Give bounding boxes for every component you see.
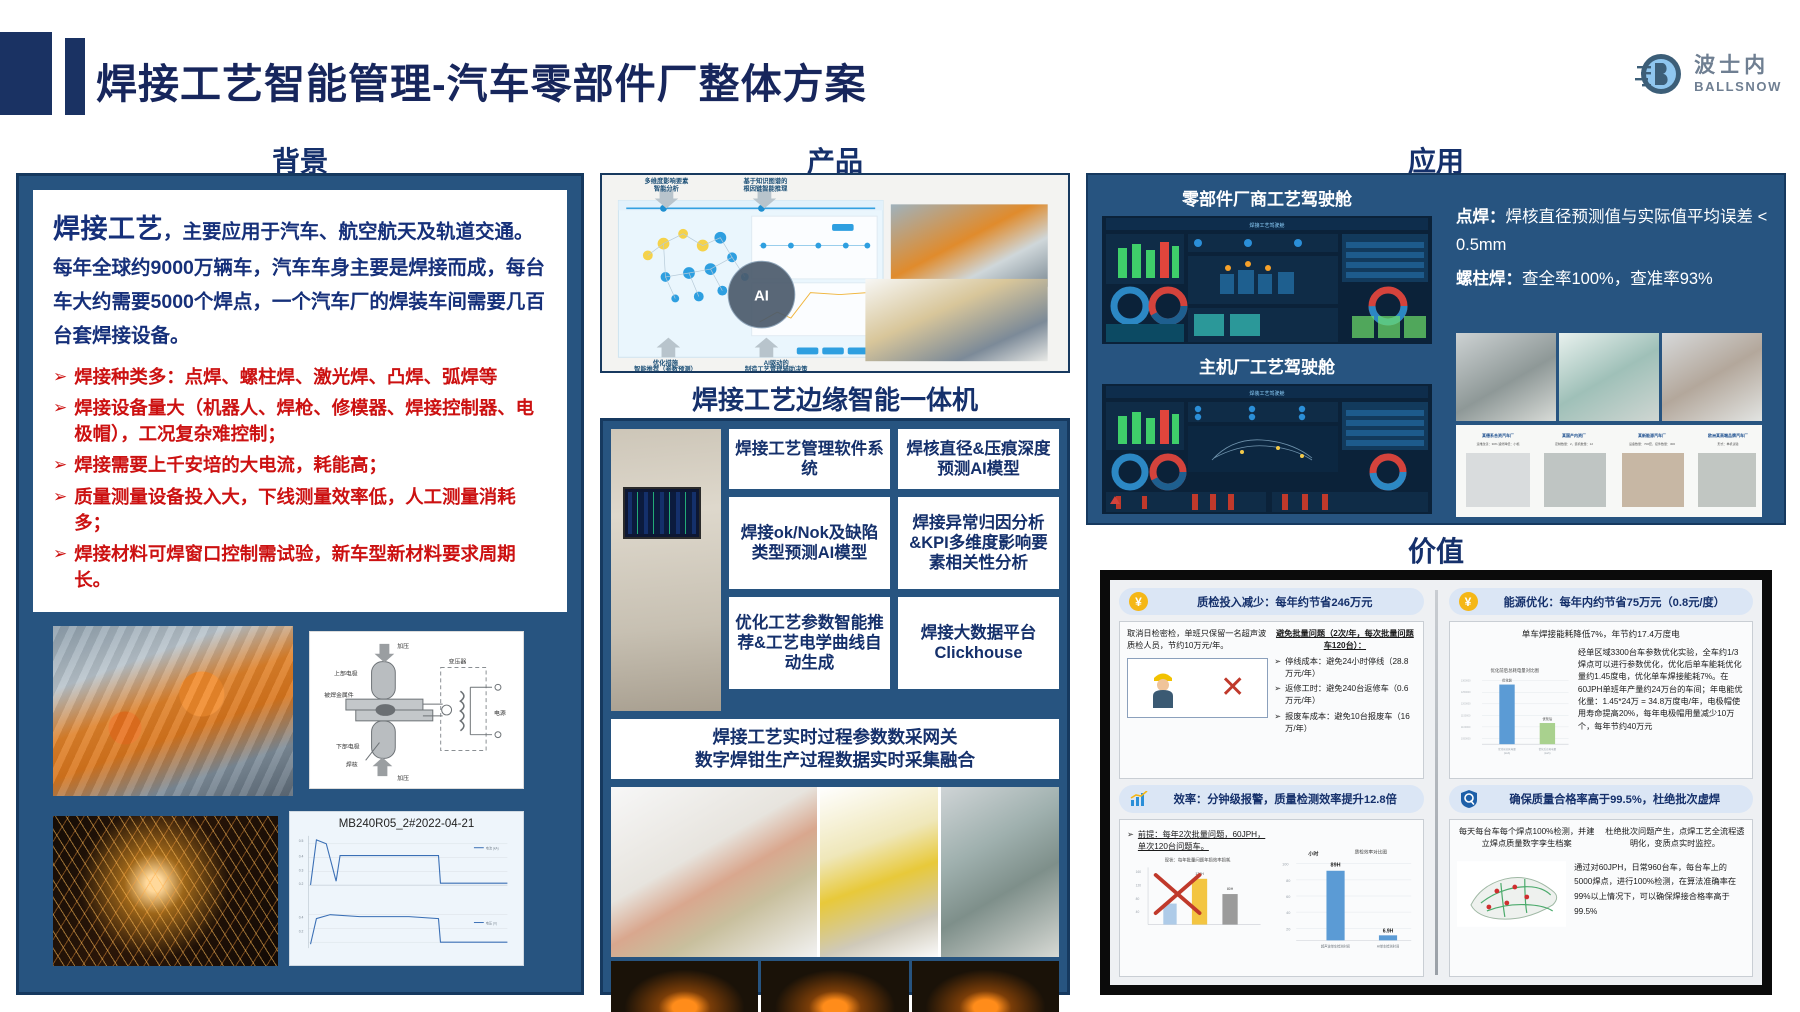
metric-spot-welding-label: 点焊： — [1456, 208, 1506, 226]
list-item: ➢ 停线成本：避免24小时停线（28.8万元/年） — [1274, 656, 1415, 681]
value-card-header-quality-cost: ¥ 质检投入减少：每年约节省246万元 — [1119, 588, 1424, 615]
photo-car-part — [941, 787, 1059, 957]
value-card-header-efficiency: 效率：分钟级报警，质量检测效率提升12.8倍 — [1119, 785, 1424, 813]
list-item: ➢ 焊接设备量大（机器人、焊枪、修模器、焊接控制器、电极帽），工况复杂难控制； — [53, 395, 547, 447]
label-multi-factor-analysis-2: 智能分析 — [654, 184, 680, 193]
arrow-bullet-icon: ➢ — [1274, 656, 1281, 681]
header-accent-block-large — [0, 32, 52, 115]
quality-left-text: 每天每台车每个焊点100%检测，并建立焊点质量数字孪生档案 — [1457, 826, 1597, 851]
chart-inspection-ylabel: 小时 — [1308, 851, 1319, 858]
photo-case-study-strip: 某德系合资汽车厂某国产内资厂 某新能源汽车厂欧洲某高端品牌汽车厂 运维改善：30… — [1456, 425, 1762, 517]
dashboard-supplier-cockpit: 焊接工艺驾驶舱 — [1102, 216, 1432, 344]
arrow-bullet-icon: ➢ — [53, 364, 67, 390]
bar-label-ultrasonic: 89H — [1331, 863, 1341, 869]
svg-text:设备数量：700套，接件数量：300: 设备数量：700套，接件数量：300 — [1629, 441, 1675, 446]
brand-logo: 波士内 BALLSNOW — [1633, 48, 1782, 100]
value-left-text-block: 取消日检密检，单班只保留一名超声波质检人员，节约10万元/年。 ✕ — [1127, 628, 1268, 772]
svg-text:优化后总耗电量: 优化后总耗电量 — [1538, 747, 1556, 751]
value-inner: ¥ 质检投入减少：每年约节省246万元 取消日检密检，单班只保留一名超声波质检人… — [1110, 580, 1762, 985]
label-knowledge-graph: 基于知识图谱的 — [743, 176, 787, 185]
chart-weld-curve-caption: MB240R05_2#2022-04-21 — [290, 812, 523, 830]
background-text-card: 焊接工艺，主要应用于汽车、航空航天及轨道交通。每年全球约9000万辆车，汽车车身… — [33, 190, 567, 612]
chart-up-svg — [1130, 791, 1148, 807]
svg-text:0.3: 0.3 — [299, 868, 304, 872]
svg-text:电压 (V): 电压 (V) — [486, 921, 497, 926]
svg-text:0.4: 0.4 — [299, 855, 304, 859]
label-upper-electrode: 上部电极 — [334, 669, 358, 677]
list-item: ➢ 焊接材料可焊窗口控制需试验，新车型新材料要求周期长。 — [53, 541, 547, 593]
svg-text:某国产内资厂: 某国产内资厂 — [1562, 432, 1586, 438]
arrow-bullet-icon: ➢ — [53, 541, 67, 593]
edge-machine-screen — [623, 487, 701, 539]
label-workpiece: 被焊金属件 — [324, 691, 354, 699]
label-top-pressure: 加压 — [397, 642, 409, 650]
dashboard2-caption: 主机厂工艺驾驶舱 — [1102, 353, 1432, 378]
svg-text:欧洲某高端品牌汽车厂: 欧洲某高端品牌汽车厂 — [1708, 432, 1748, 438]
ballsnow-logo-icon — [1633, 48, 1685, 100]
efficiency-left: ➢ 前提：每年2次批量问题，60JPH，单次120台问题车。 现状：每年批量问题… — [1127, 826, 1268, 970]
photo-weld-closeup-1 — [1456, 333, 1556, 421]
svg-text:形式：单机试验: 形式：单机试验 — [1717, 441, 1738, 446]
energy-heading: 单车焊接能耗降低7%，年节约17.4万度电 — [1457, 628, 1746, 641]
bullet-text: 焊接设备量大（机器人、焊枪、修模器、焊接控制器、电极帽），工况复杂难控制； — [74, 395, 547, 447]
bullet-text: 焊接需要上千安培的大电流，耗能高； — [74, 452, 387, 478]
chart-energy-compare: 优化前后总耗电量对比图 130000012500001200000 11500 — [1457, 647, 1572, 772]
list-item: ➢ 焊接需要上千安培的大电流，耗能高； — [53, 452, 547, 478]
photo-welding-robots — [53, 626, 293, 796]
product-subtitle: 焊接工艺边缘智能一体机 — [600, 380, 1070, 417]
product-feature-grid: 焊接工艺管理软件系统 焊接ok/Nok及缺陷类型预测AI模型 优化工艺参数智能推… — [611, 429, 1059, 711]
list-item: ➢ 焊接种类多：点焊、螺柱焊、激光焊、凸焊、弧焊等 — [53, 364, 547, 390]
quality-carbody-block — [1457, 861, 1567, 970]
svg-text:1300000: 1300000 — [1460, 680, 1470, 683]
value-card-body-efficiency: ➢ 前提：每年2次批量问题，60JPH，单次120台问题车。 现状：每年批量问题… — [1119, 819, 1424, 977]
dashboard-oem-cockpit: 焊装工艺驾驶舱 — [1102, 384, 1432, 514]
product-edge-machine-panel: 焊接工艺管理软件系统 焊接ok/Nok及缺陷类型预测AI模型 优化工艺参数智能推… — [600, 418, 1070, 995]
feature-box-2: 焊接ok/Nok及缺陷类型预测AI模型 — [729, 497, 890, 589]
application-panel: 零部件厂商工艺驾驶舱 焊接工艺驾驶舱 — [1086, 173, 1786, 525]
arrow-bullet-icon: ➢ — [1274, 711, 1281, 736]
feature-box-6: 焊接大数据平台 Clickhouse — [898, 597, 1059, 689]
svg-text:运维改善：30% 返修降低：小幅: 运维改善：30% 返修降低：小幅 — [1477, 441, 1520, 446]
value-card-title: 质检投入减少：每年约节省246万元 — [1156, 594, 1414, 610]
svg-text:电流 (kA): 电流 (kA) — [486, 846, 499, 851]
svg-text:焊装工艺驾驶舱: 焊装工艺驾驶舱 — [1249, 390, 1284, 397]
value-column-left: ¥ 质检投入减少：每年约节省246万元 取消日检密检，单班只保留一名超声波质检人… — [1110, 580, 1433, 985]
dashboard1-caption: 零部件厂商工艺驾驶舱 — [1102, 185, 1432, 210]
svg-text:60: 60 — [1286, 895, 1290, 899]
dashboard1-svg: 焊接工艺驾驶舱 — [1102, 216, 1432, 344]
chart-inspection-caption: 质检效率对比图 — [1355, 849, 1388, 856]
value-card-title: 能源优化：每年内约节省75万元（0.8元/度） — [1486, 594, 1744, 610]
metric-stud-welding: 螺柱焊：查全率100%，查准率93% — [1456, 265, 1772, 293]
product-photo-strip — [611, 787, 1059, 957]
chart-up-icon — [1129, 789, 1149, 809]
quality-paragraph-block: 通过对60JPH，日常960台车，每台车上的5000焊点，进行100%检测，在算… — [1574, 861, 1745, 970]
svg-text:120: 120 — [1136, 883, 1142, 887]
list-item: ➢ 报废车成本：避免10台报废车（16万/年） — [1274, 711, 1415, 736]
svg-text:优化前总耗电量: 优化前总耗电量 — [1498, 747, 1516, 751]
energy-paragraph-block: 经单区域3300台车参数优化实验，全车约1/3焊点可以进行参数优化，优化后单车能… — [1578, 647, 1745, 772]
efficiency-right: 质检效率对比图 小时 1008060 4020 — [1274, 826, 1415, 970]
label-transformer: 变压器 — [449, 658, 467, 666]
arrow-bullet-icon: ➢ — [53, 395, 67, 447]
diagram-spot-welding: 加压 上部电极 被焊金属件 焊核 下部电极 加压 变压器 电源 — [309, 631, 524, 789]
svg-text:优化前: 优化前 — [1502, 678, 1512, 683]
header-accent-block-small — [65, 38, 85, 115]
background-bullet-list: ➢ 焊接种类多：点焊、螺柱焊、激光焊、凸焊、弧焊等 ➢ 焊接设备量大（机器人、焊… — [53, 364, 547, 593]
value-column-divider — [1435, 590, 1438, 975]
worker-icon — [1150, 668, 1176, 708]
background-lead-paragraph: 焊接工艺，主要应用于汽车、航空航天及轨道交通。每年全球约9000万辆车，汽车车身… — [53, 206, 547, 353]
section-title-value: 价值 — [1100, 530, 1772, 570]
label-lower-electrode: 下部电极 — [336, 743, 360, 751]
value-card-body-quality-cost: 取消日检密检，单班只保留一名超声波质检人员，节约10万元/年。 ✕ 避免批量问题… — [1119, 621, 1424, 779]
photo-welding-sparks — [53, 816, 278, 966]
photo-spark-3 — [912, 961, 1059, 1012]
quality-headings: 每天每台车每个焊点100%检测，并建立焊点质量数字孪生档案 杜绝批次问题产生，点… — [1457, 826, 1746, 851]
value-column-right: ¥ 能源优化：每年内约节省75万元（0.8元/度） 单车焊接能耗降低7%，年节约… — [1440, 580, 1763, 985]
photo-edge-machine — [611, 429, 721, 711]
arrow-bullet-icon: ➢ — [1127, 829, 1134, 854]
product-architecture-panel: 多维度影响要素 智能分析 基于知识图谱的 根因链智能推理 优化措施 智能推荐（参… — [600, 173, 1070, 373]
svg-text:优化后: 优化后 — [1542, 716, 1552, 721]
value-right-text-block: 避免批量问题（2次/年，每次批量问题车120台）： ➢ 停线成本：避免24小时停… — [1274, 628, 1415, 772]
slide-root: 焊接工艺智能管理-汽车零部件厂整体方案 波士内 BALLSNOW 背景 产品 — [0, 0, 1800, 1012]
value-card-header-quality-rate: 确保质量合格率高于99.5%，杜绝批次虚焊 — [1449, 785, 1754, 813]
product-feature-column-left: 焊接工艺管理软件系统 焊接ok/Nok及缺陷类型预测AI模型 优化工艺参数智能推… — [729, 429, 890, 711]
photo-yellow-robot — [820, 787, 938, 957]
svg-text:1200000: 1200000 — [1460, 703, 1470, 706]
energy-paragraph: 经单区域3300台车参数优化实验，全车约1/3焊点可以进行参数优化，优化后单车能… — [1578, 647, 1745, 733]
value-right-item: 报废车成本：避免10台报废车（16万/年） — [1285, 711, 1415, 736]
photo-weld-gun — [611, 787, 817, 957]
photo-spark-1 — [611, 961, 758, 1012]
svg-text:某新能源汽车厂: 某新能源汽车厂 — [1638, 432, 1666, 438]
efficiency-premise: 前提：每年2次批量问题，60JPH，单次120台问题车。 — [1138, 829, 1268, 854]
svg-text:40: 40 — [1136, 910, 1140, 914]
svg-text:80: 80 — [1286, 879, 1290, 883]
list-item: ➢ 质量测量设备投入大，下线测量效率低，人工测量消耗多； — [53, 484, 547, 536]
metric-spot-welding: 点焊：焊核直径预测值与实际值平均误差 < 0.5mm — [1456, 203, 1772, 259]
cross-mark-icon: ✕ — [1220, 673, 1245, 703]
svg-text:0.4: 0.4 — [299, 916, 304, 920]
svg-text:0.2: 0.2 — [299, 882, 304, 886]
value-right-item: 返修工时：避免240台返修车（0.6万元/年） — [1285, 683, 1415, 708]
arrow-bullet-icon: ➢ — [1274, 683, 1281, 708]
background-panel: 焊接工艺，主要应用于汽车、航空航天及轨道交通。每年全球约9000万辆车，汽车车身… — [16, 173, 584, 995]
quality-right-text: 杜绝批次问题产生，点焊工艺全流程透明化，变质点实时监控。 — [1605, 826, 1745, 851]
dashboard2-svg: 焊装工艺驾驶舱 — [1102, 384, 1432, 514]
energy-content: 优化前后总耗电量对比图 130000012500001200000 11500 — [1457, 647, 1746, 772]
value-card-title: 确保质量合格率高于99.5%，杜绝批次虚焊 — [1487, 791, 1744, 807]
quality-content: 通过对60JPH，日常960台车，每台车上的5000焊点，进行100%检测，在算… — [1457, 861, 1746, 970]
chart-weld-curve: MB240R05_2#2022-04-21 0.50.4 0.30.2 — [289, 811, 524, 966]
shield-check-svg — [1459, 789, 1479, 809]
value-card-header-energy: ¥ 能源优化：每年内约节省75万元（0.8元/度） — [1449, 588, 1754, 615]
label-ai-decision-2: 制造工艺管理辅助决策 — [745, 364, 808, 371]
photo-weld-closeup-3 — [1662, 333, 1762, 421]
list-item: ➢ 返修工时：避免240台返修车（0.6万元/年） — [1274, 683, 1415, 708]
feature-box-gateway: 焊接工艺实时过程参数数采网关 数字焊钳生产过程数据实时采集融合 — [611, 719, 1059, 779]
background-lead-strong: 焊接工艺 — [53, 214, 163, 244]
chart-energy-caption: 优化前后总耗电量对比图 — [1490, 667, 1539, 674]
slide-header: 焊接工艺智能管理-汽车零部件厂整体方案 波士内 BALLSNOW — [0, 0, 1800, 138]
bullet-text: 焊接材料可焊窗口控制需试验，新车型新材料要求周期长。 — [74, 541, 547, 593]
chart-current-loss-caption: 现状：每年批量问题年损效率损耗 — [1165, 856, 1231, 863]
photo-spark-2 — [761, 961, 908, 1012]
svg-text:100: 100 — [1282, 863, 1288, 867]
value-card-title: 效率：分钟级报警，质量检测效率提升12.8倍 — [1157, 791, 1414, 807]
chart-inspection-efficiency: 质检效率对比图 小时 1008060 4020 — [1274, 826, 1415, 970]
case-study-svg: 某德系合资汽车厂某国产内资厂 某新能源汽车厂欧洲某高端品牌汽车厂 运维改善：30… — [1456, 425, 1762, 517]
application-metrics: 点焊：焊核直径预测值与实际值平均误差 < 0.5mm 螺柱焊：查全率100%，查… — [1456, 203, 1772, 293]
application-photo-grid: 某德系合资汽车厂某国产内资厂 某新能源汽车厂欧洲某高端品牌汽车厂 运维改善：30… — [1456, 333, 1772, 518]
metric-stud-welding-label: 螺柱焊： — [1456, 270, 1522, 288]
yen-coin-icon: ¥ — [1459, 592, 1478, 611]
product-feature-column-right: 焊核直径&压痕深度预测AI模型 焊接异常归因分析&KPI多维度影响要素相关性分析… — [898, 429, 1059, 711]
list-item: ➢ 前提：每年2次批量问题，60JPH，单次120台问题车。 — [1127, 829, 1268, 854]
product-architecture-svg: 多维度影响要素 智能分析 基于知识图谱的 根因链智能推理 优化措施 智能推荐（参… — [602, 175, 1068, 371]
svg-text:80H: 80H — [1227, 887, 1234, 891]
feature-box-3: 优化工艺参数智能推荐&工艺电学曲线自动生成 — [729, 597, 890, 689]
quality-paragraph: 通过对60JPH，日常960台车，每台车上的5000焊点，进行100%检测，在算… — [1574, 861, 1745, 920]
application-dashboards: 零部件厂商工艺驾驶舱 焊接工艺驾驶舱 — [1102, 185, 1432, 514]
car-body-weldpoints-diagram — [1457, 861, 1567, 927]
feature-box-4: 焊核直径&压痕深度预测AI模型 — [898, 429, 1059, 489]
label-nugget: 焊核 — [346, 760, 358, 768]
bullet-text: 质量测量设备投入大，下线测量效率低，人工测量消耗多； — [74, 484, 547, 536]
background-image-grid: 加压 上部电极 被焊金属件 焊核 下部电极 加压 变压器 电源 MB240R05… — [33, 626, 567, 966]
value-left-text: 取消日检密检，单班只保留一名超声波质检人员，节约10万元/年。 — [1127, 628, 1268, 653]
label-bottom-pressure: 加压 — [397, 774, 409, 782]
page-title: 焊接工艺智能管理-汽车零部件厂整体方案 — [96, 50, 867, 110]
logo-name-cn: 波士内 — [1694, 55, 1782, 76]
worker-illustration: ✕ — [1127, 658, 1268, 718]
bar-label-ai: 6.9H — [1383, 928, 1394, 934]
logo-text: 波士内 BALLSNOW — [1694, 55, 1782, 93]
yen-coin-icon: ¥ — [1129, 592, 1148, 611]
svg-text:1250000: 1250000 — [1460, 691, 1470, 694]
svg-text:焊接工艺驾驶舱: 焊接工艺驾驶舱 — [1249, 222, 1284, 229]
metric-stud-welding-text: 查全率100%，查准率93% — [1522, 270, 1713, 288]
feature-box-5: 焊接异常归因分析&KPI多维度影响要素相关性分析 — [898, 497, 1059, 589]
product-spark-strip — [611, 961, 1059, 1012]
svg-text:20: 20 — [1286, 927, 1290, 931]
value-right-heading: 避免批量问题（2次/年，每次批量问题车120台）： — [1274, 628, 1415, 653]
photo-weld-closeup-2 — [1559, 333, 1659, 421]
svg-text:超声波单车检测时间: 超声波单车检测时间 — [1321, 943, 1350, 948]
svg-text:1050000: 1050000 — [1460, 737, 1470, 740]
svg-text:AI单车检测时间: AI单车检测时间 — [1377, 943, 1399, 948]
weld-curve-svg: 0.50.4 0.30.2 0.40.2 电流 (kA) 电压 (V) — [290, 830, 523, 956]
label-optimize-measure-2: 智能推荐（参数预测） — [634, 364, 697, 371]
energy-chart-block: 优化前后总耗电量对比图 130000012500001200000 11500 — [1457, 647, 1572, 772]
bullet-text: 焊接种类多：点焊、螺柱焊、激光焊、凸焊、弧焊等 — [74, 364, 497, 390]
svg-text:80: 80 — [1136, 896, 1140, 900]
svg-text:(kwh): (kwh) — [1544, 752, 1550, 755]
svg-text:1100000: 1100000 — [1460, 726, 1470, 729]
svg-text:160: 160 — [1136, 870, 1142, 874]
spot-welding-svg: 加压 上部电极 被焊金属件 焊核 下部电极 加压 变压器 电源 — [310, 632, 523, 788]
arrow-bullet-icon: ➢ — [53, 452, 67, 478]
shield-check-icon — [1459, 789, 1479, 809]
feature-box-1: 焊接工艺管理软件系统 — [729, 429, 890, 489]
chart-current-loss: 现状：每年批量问题年损效率损耗 1601208040 120H 80H — [1127, 854, 1268, 936]
svg-text:0.2: 0.2 — [299, 929, 304, 933]
label-power: 电源 — [494, 709, 506, 717]
svg-text:1150000: 1150000 — [1460, 714, 1470, 717]
arrow-bullet-icon: ➢ — [53, 484, 67, 536]
logo-svg — [1633, 48, 1685, 100]
label-knowledge-graph-2: 根因链智能推理 — [743, 184, 788, 193]
value-right-item: 停线成本：避免24小时停线（28.8万元/年） — [1285, 656, 1415, 681]
value-card-body-quality-rate: 每天每台车每个焊点100%检测，并建立焊点质量数字孪生档案 杜绝批次问题产生，点… — [1449, 819, 1754, 977]
svg-text:(kwh): (kwh) — [1503, 752, 1509, 755]
label-multi-factor-analysis: 多维度影响要素 — [645, 176, 690, 185]
svg-text:40: 40 — [1286, 911, 1290, 915]
ai-badge-label: AI — [754, 288, 769, 304]
product-feature-columns: 焊接工艺管理软件系统 焊接ok/Nok及缺陷类型预测AI模型 优化工艺参数智能推… — [729, 429, 1059, 711]
svg-text:某德系合资汽车厂: 某德系合资汽车厂 — [1482, 432, 1514, 438]
logo-name-en: BALLSNOW — [1694, 80, 1782, 93]
value-card-body-energy: 单车焊接能耗降低7%，年节约17.4万度电 优化前后总耗电量对比图 — [1449, 621, 1754, 779]
svg-text:0.5: 0.5 — [299, 839, 304, 843]
svg-text:定制数量：2，装机数量：12: 定制数量：2，装机数量：12 — [1555, 441, 1593, 446]
value-panel: ¥ 质检投入减少：每年约节省246万元 取消日检密检，单班只保留一名超声波质检人… — [1100, 570, 1772, 995]
